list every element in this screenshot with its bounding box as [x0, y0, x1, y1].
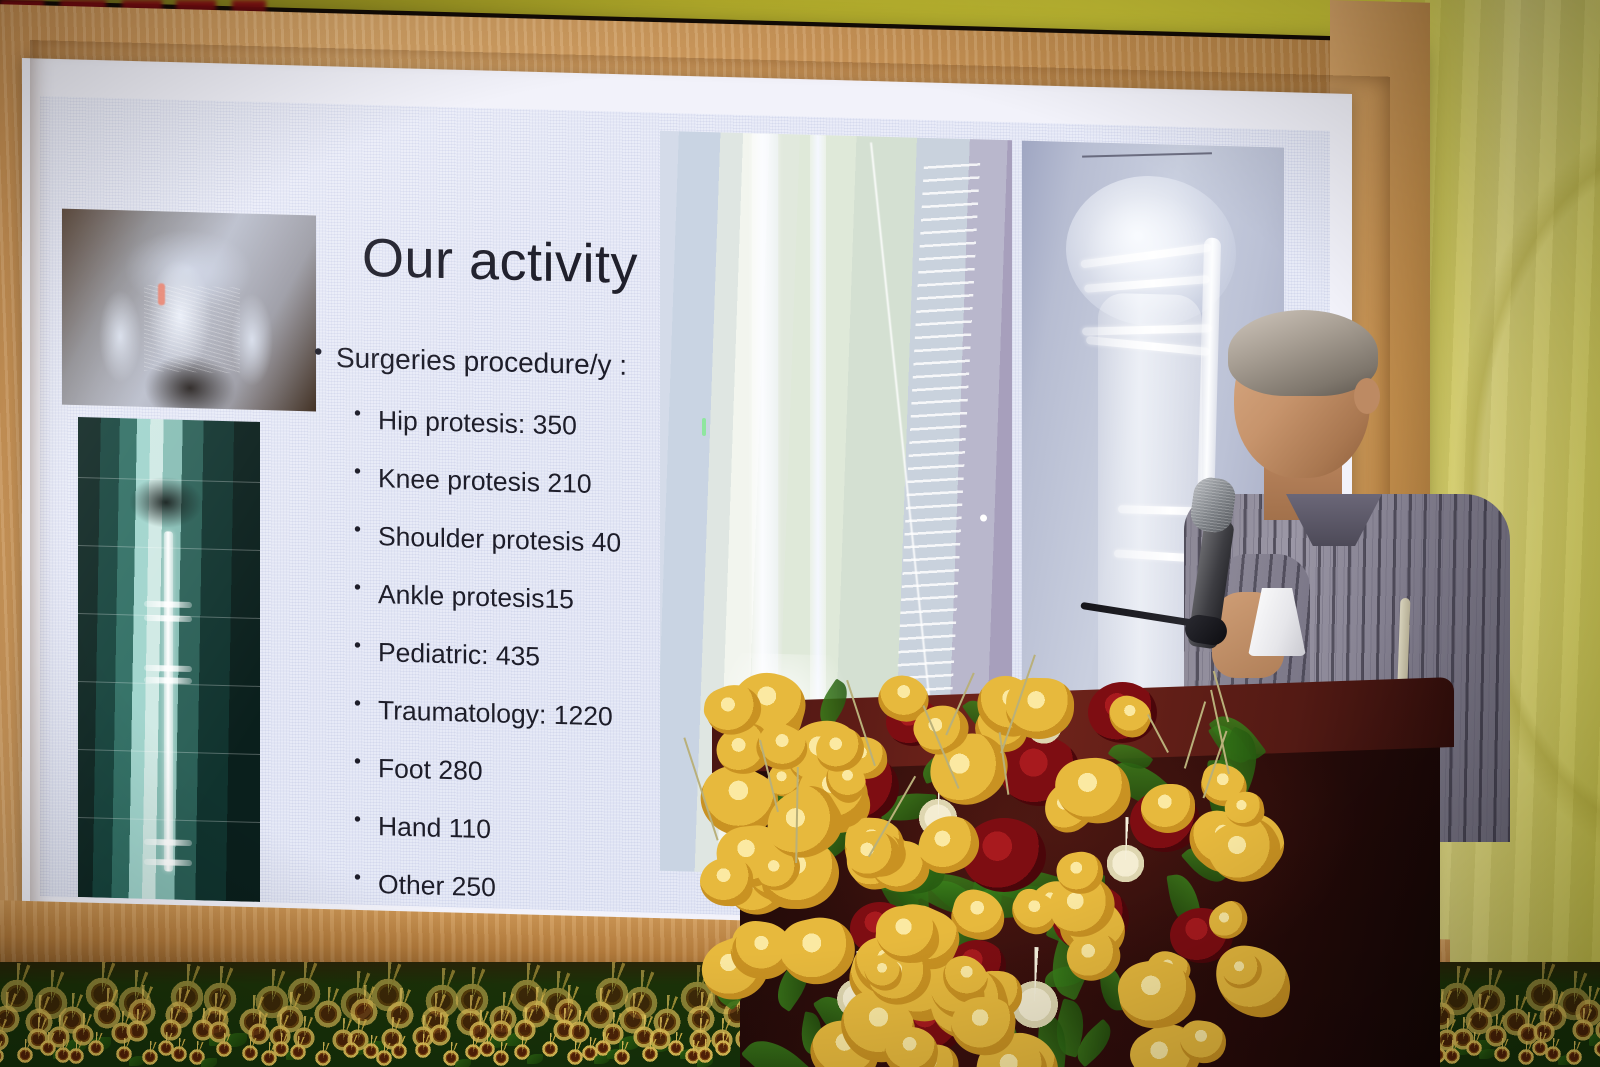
sunflower [611, 1046, 633, 1067]
flower-spray-stem [1147, 714, 1169, 753]
speaker-ear [1354, 378, 1380, 414]
sunflower [412, 1039, 434, 1061]
flower-spray-stem [1184, 701, 1206, 769]
yellow-orchid [1141, 784, 1195, 833]
sunflower [213, 1038, 235, 1060]
sunflower [639, 1043, 661, 1065]
sunflower [0, 1045, 7, 1067]
yellow-orchid [699, 857, 754, 907]
sunflower [1591, 1038, 1600, 1060]
sunflower [312, 1047, 334, 1067]
floral-arrangement [700, 640, 1260, 1067]
sunflower [85, 1037, 107, 1059]
pincushion-protea [1098, 836, 1153, 891]
presentation-photo: Our activity Surgeries procedure/y : Hip… [0, 0, 1600, 1067]
sunflower [1563, 1046, 1585, 1067]
speaker-hair [1228, 310, 1378, 396]
sunflower [287, 1041, 309, 1063]
sunflower [539, 1038, 561, 1060]
